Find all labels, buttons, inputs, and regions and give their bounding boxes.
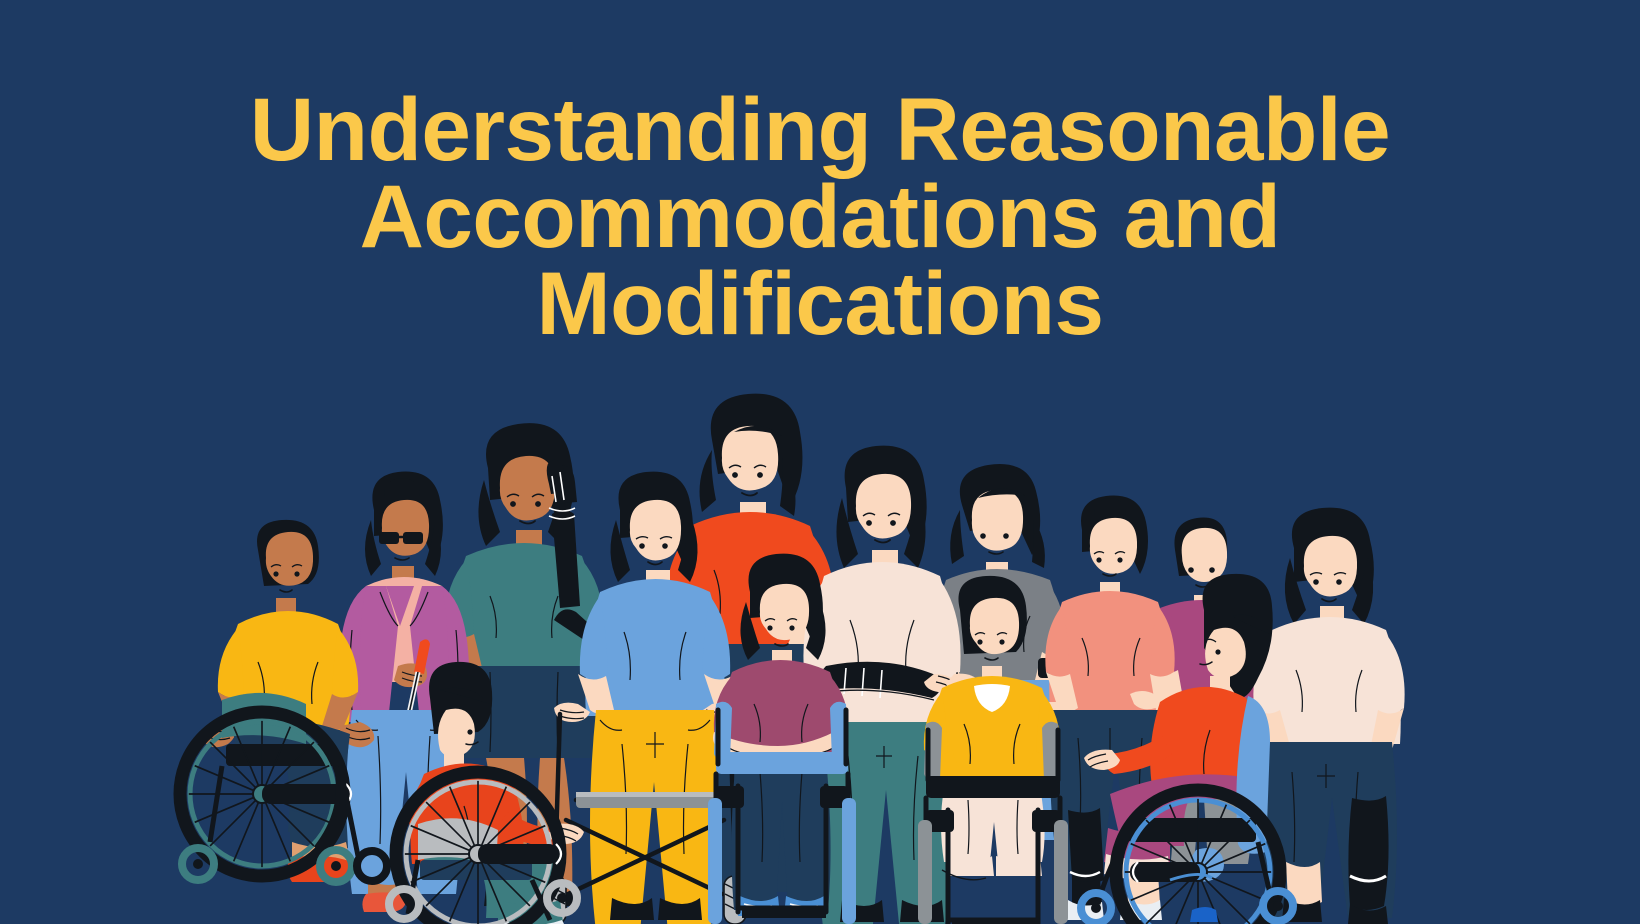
disability-inclusion-group-illustration: [0, 380, 1640, 924]
page-title: Understanding Reasonable Accommodations …: [0, 86, 1640, 348]
poster-canvas: Understanding Reasonable Accommodations …: [0, 0, 1640, 924]
title-line-3: Modifications: [80, 260, 1560, 347]
title-line-1: Understanding Reasonable: [80, 86, 1560, 173]
title-line-2: Accommodations and: [80, 173, 1560, 260]
